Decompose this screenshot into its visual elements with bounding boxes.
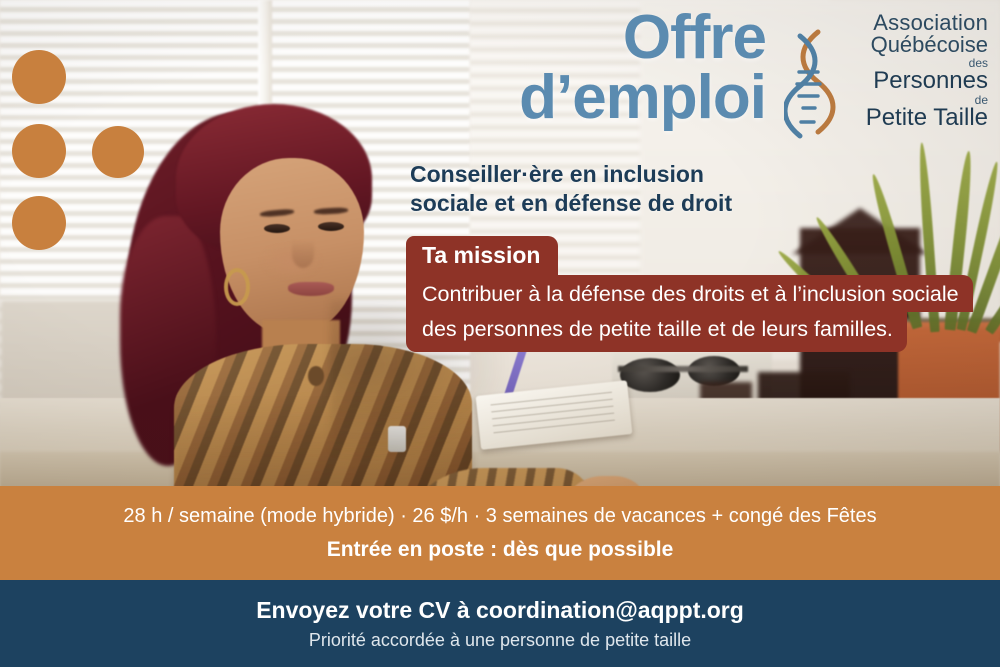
conditions-start-date: Entrée en poste : dès que possible <box>327 538 674 562</box>
logo-wordmark: Association Québécoise des Personnes de … <box>838 12 988 130</box>
mission-tab-label: Ta mission <box>406 236 558 275</box>
apply-note: Priorité accordée à une personne de peti… <box>309 630 691 651</box>
headline-line-1: Offre <box>623 3 766 72</box>
mission-text-line-1: Contribuer à la défense des droits et à … <box>406 275 973 312</box>
poster-headline: Offre d’emploi <box>396 8 766 127</box>
conditions-band: 28 h / semaine (mode hybride) · 26 $/h ·… <box>0 486 1000 580</box>
decorative-dot <box>12 124 66 178</box>
decorative-dot <box>12 50 66 104</box>
mission-block: Ta mission Contribuer à la défense des d… <box>406 236 973 352</box>
conditions-details: 28 h / semaine (mode hybride) · 26 $/h ·… <box>123 504 876 528</box>
logo-line-4: Personnes <box>838 69 988 93</box>
logo-line-2: Québécoise <box>838 34 988 56</box>
logo-line-6: Petite Taille <box>838 106 988 130</box>
job-title-line-1: Conseiller·ère en inclusion <box>410 160 830 189</box>
decorative-dot <box>12 196 66 250</box>
job-title-line-2: sociale et en défense de droit <box>410 189 830 218</box>
job-posting-poster: Association Québécoise des Personnes de … <box>0 0 1000 667</box>
dna-helix-icon <box>784 28 840 146</box>
decorative-dot <box>92 126 144 178</box>
apply-cta[interactable]: Envoyez votre CV à coordination@aqppt.or… <box>256 597 744 624</box>
organization-logo: Association Québécoise des Personnes de … <box>784 12 988 152</box>
headline-line-2: d’emploi <box>396 68 766 128</box>
job-title: Conseiller·ère en inclusion sociale et e… <box>410 160 830 218</box>
mission-text-line-2: des personnes de petite taille et de leu… <box>406 312 907 352</box>
apply-band: Envoyez votre CV à coordination@aqppt.or… <box>0 580 1000 667</box>
logo-line-1: Association <box>838 12 988 34</box>
